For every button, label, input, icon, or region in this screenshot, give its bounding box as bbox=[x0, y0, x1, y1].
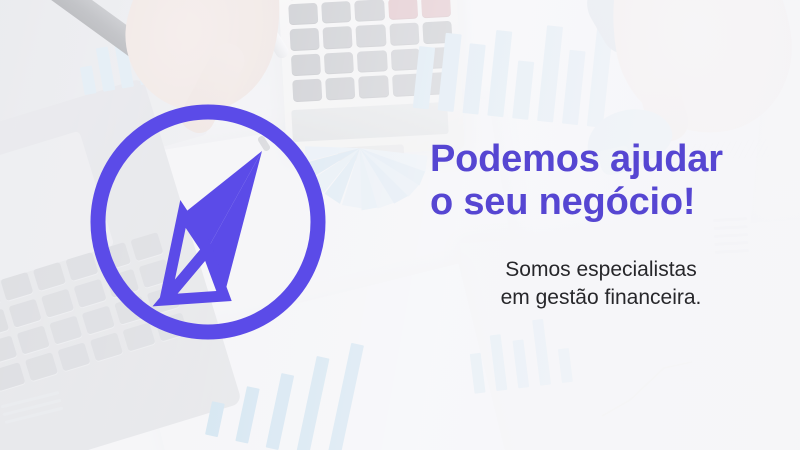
subtitle-line-2: em gestão financeira. bbox=[436, 284, 766, 312]
compass-logo bbox=[90, 104, 326, 340]
subtitle-line-1: Somos especialistas bbox=[436, 256, 766, 284]
page-title: Podemos ajudar o seu negócio! bbox=[430, 138, 770, 224]
subtitle: Somos especialistas em gestão financeira… bbox=[436, 256, 766, 312]
headline-line-2: o seu negócio! bbox=[430, 181, 770, 224]
promo-banner: Podemos ajudar o seu negócio! Somos espe… bbox=[0, 0, 800, 450]
headline-line-1: Podemos ajudar bbox=[430, 138, 770, 181]
